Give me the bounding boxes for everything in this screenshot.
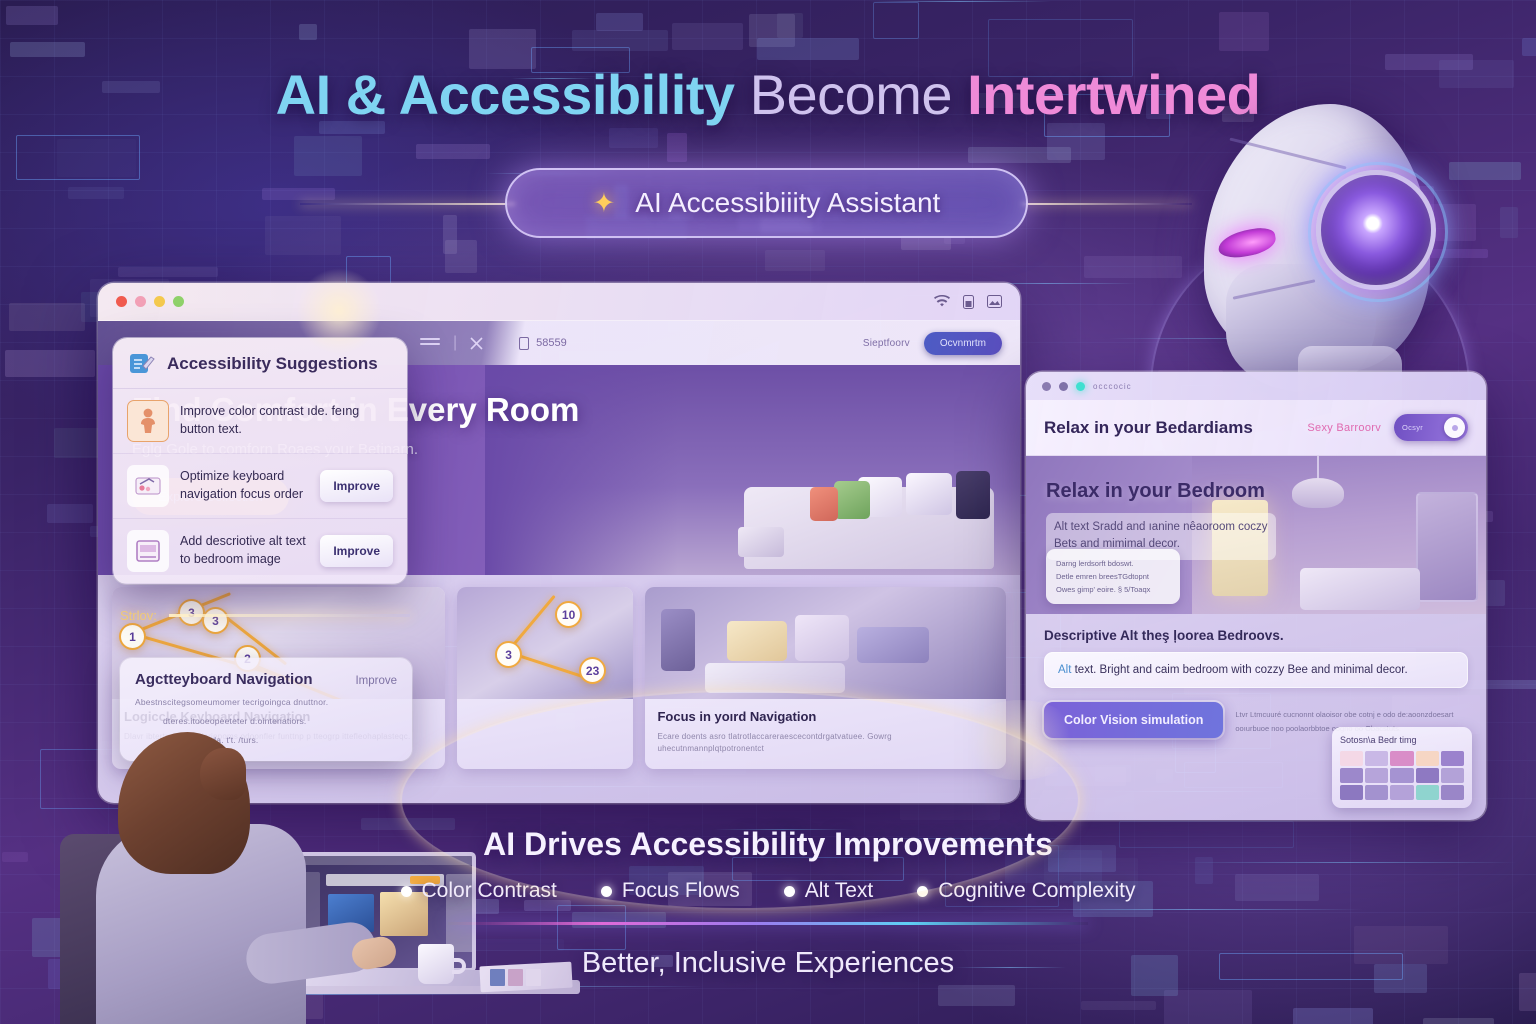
swatch-3-4[interactable] xyxy=(1416,785,1439,800)
improve-button-nav[interactable]: Improve xyxy=(355,675,397,687)
rpanel-dot-3[interactable] xyxy=(1076,382,1085,391)
rpanel-lamp-cord xyxy=(1317,456,1319,480)
bg-chip xyxy=(416,144,490,160)
glow-wire-arc xyxy=(400,690,1080,910)
bottom-subheading: Better, Inclusive Experiences xyxy=(0,947,1536,980)
bg-outline xyxy=(873,2,919,40)
swatch-1-1[interactable] xyxy=(1340,751,1363,766)
bg-chip xyxy=(596,13,643,32)
alt-text-input[interactable]: Alt text. Bright and caim bedroom with c… xyxy=(1044,652,1468,688)
document-icon xyxy=(519,337,529,350)
focus-node-7[interactable]: 23 xyxy=(579,657,606,684)
rpanel-bed xyxy=(1300,568,1420,610)
rpanel-header-title: Relax in your Bedardiams xyxy=(1044,418,1253,438)
card3-object-1 xyxy=(727,621,787,661)
swatch-1-3[interactable] xyxy=(1390,751,1413,766)
swatch-3-3[interactable] xyxy=(1390,785,1413,800)
toolbar-divider: | xyxy=(453,334,457,352)
bg-chip xyxy=(667,133,687,163)
bg-chip xyxy=(757,38,859,60)
close-window-dot[interactable] xyxy=(116,296,127,307)
hero-cushion-4 xyxy=(906,473,952,515)
keyboard-nav-title: Agctteyboard Navigation xyxy=(135,671,313,688)
title-part-2: Become xyxy=(735,63,968,126)
poster-root: AI & Accessibility Become Intertwined ✦ … xyxy=(0,0,1536,1024)
bg-chip xyxy=(6,6,57,25)
bg-chip xyxy=(1219,12,1269,51)
rpanel-titlebar: occcocic xyxy=(1026,372,1486,400)
toggle-knob xyxy=(1444,417,1465,438)
bedroom-editor-panel: occcocic Relax in your Bedardiams Sexy B… xyxy=(1026,372,1486,820)
status-label: Strlov: xyxy=(120,608,157,623)
image-alt-icon xyxy=(127,530,169,572)
card-image-2: 3 10 23 xyxy=(457,587,633,699)
bg-chip xyxy=(901,236,951,250)
rpanel-dot-1[interactable] xyxy=(1042,382,1051,391)
suggestion-row-alt-text[interactable]: Add descriotive alt text to bedroom imag… xyxy=(113,519,407,584)
battery-icon xyxy=(963,295,974,309)
card3-object-3 xyxy=(857,627,929,663)
close-icon[interactable] xyxy=(470,337,483,350)
bullet-dot-icon xyxy=(401,886,412,897)
bg-chip xyxy=(609,128,658,148)
focus-node-1[interactable]: 1 xyxy=(119,623,146,650)
rpanel-dot-2[interactable] xyxy=(1059,382,1068,391)
swatch-2-4[interactable] xyxy=(1416,768,1439,783)
bottom-beam xyxy=(448,922,1088,925)
hero-cushion-3 xyxy=(810,487,838,521)
bg-chip xyxy=(118,267,218,277)
bg-chip xyxy=(299,24,317,40)
ai-accessibility-assistant-pill[interactable]: ✦ AI Accessibiiity Assistant xyxy=(505,168,1028,238)
toggle-label: Ocsyr xyxy=(1402,423,1423,432)
bg-chip xyxy=(9,303,85,332)
rpanel-hero-text: Relax in your Bedroom Alt text Sradd and… xyxy=(1046,480,1276,560)
bg-chip xyxy=(68,187,123,198)
swatch-3-2[interactable] xyxy=(1365,785,1388,800)
bg-chip xyxy=(10,42,85,57)
suggestion-row-color-contrast[interactable]: Improve color contrast ıde. feıng button… xyxy=(113,389,407,454)
swatch-card-title: Sotosn\a Bedr timg xyxy=(1340,735,1464,745)
suggestion-text-3: Add descriotive alt text to bedroom imag… xyxy=(180,533,309,569)
rpanel-hero: Relax in your Bedroom Alt text Sradd and… xyxy=(1026,456,1486,614)
focus-node-6[interactable]: 10 xyxy=(555,601,582,628)
fullscreen-window-dot[interactable] xyxy=(173,296,184,307)
toolbar-nav-text[interactable]: Sieptfoorv xyxy=(863,338,910,349)
rpanel-shelf xyxy=(1416,492,1478,602)
person-accessibility-icon xyxy=(127,400,169,442)
bg-chip xyxy=(5,350,96,376)
accessibility-suggestions-panel: Accessibility Suggestions Improve color … xyxy=(113,338,407,584)
document-tab[interactable]: 58559 xyxy=(519,337,567,350)
rpanel-tooltip: Darng lerdsorft bdoswt. Detle emren bree… xyxy=(1046,549,1180,604)
document-label: 58559 xyxy=(536,337,567,349)
bg-chip xyxy=(47,504,92,523)
assistant-label: AI Accessibiiity Assistant xyxy=(635,187,940,219)
swatch-2-1[interactable] xyxy=(1340,768,1363,783)
bg-chip xyxy=(1500,207,1518,238)
image-icon xyxy=(987,295,1002,308)
bg-chip xyxy=(1293,1008,1373,1024)
swatch-3-5[interactable] xyxy=(1441,785,1464,800)
tooltip-line-2: Detle emren breesTGdtopnt xyxy=(1056,570,1170,583)
toolbar-cta-button[interactable]: Ocvnmrtm xyxy=(924,332,1002,355)
swatch-2-3[interactable] xyxy=(1390,768,1413,783)
alt-text-value: text. Bright and caim bedroom with cozzy… xyxy=(1071,664,1407,676)
swatch-3-1[interactable] xyxy=(1340,785,1363,800)
swatch-2-5[interactable] xyxy=(1441,768,1464,783)
color-swatch-card: Sotosn\a Bedr timg xyxy=(1332,727,1472,808)
toolbar-left-controls: | xyxy=(420,334,483,352)
keyboard-nav-header: Agctteyboard Navigation Improve xyxy=(135,671,397,688)
cvs-note-line-1: Ltvr Ltmcuuré cucnonnt olaoisor obe cotn… xyxy=(1235,708,1468,722)
robot-ear-module xyxy=(1316,170,1436,290)
suggestion-text-2: Optimize keyboard navigation focus order xyxy=(180,468,309,504)
bg-chip xyxy=(1423,1018,1494,1024)
swatch-2-2[interactable] xyxy=(1365,768,1388,783)
bg-chip xyxy=(672,23,743,50)
titlebar-status-icons xyxy=(934,295,1002,309)
suggestions-title: Accessibility Suggestions xyxy=(167,354,378,374)
rpanel-pink-label: Sexy Barroorv xyxy=(1307,422,1381,434)
rpanel-lamp xyxy=(1292,478,1344,508)
tooltip-line-3: Owes gimp' eoire. § 5/Toaqx xyxy=(1056,583,1170,596)
bg-chip xyxy=(1081,1001,1156,1011)
rpanel-hero-title: Relax in your Bedroom xyxy=(1046,480,1276,503)
bg-outline xyxy=(16,135,140,181)
rpanel-header: Relax in your Bedardiams Sexy Barroorv O… xyxy=(1026,400,1486,456)
assistant-wire-left xyxy=(300,203,515,205)
suggestion-text-1: Improve color contrast ıde. feıng button… xyxy=(180,403,393,439)
sparkle-icon: ✦ xyxy=(593,188,616,219)
alt-text-section-title: Descriptive Alt theş ļoorea Bedroovs. xyxy=(1044,628,1468,643)
keyboard-icon xyxy=(127,465,169,507)
checklist-icon xyxy=(129,352,155,376)
hero-cushion-5 xyxy=(956,471,990,519)
rpanel-header-right: Sexy Barroorv Ocsyr xyxy=(1307,414,1468,441)
status-beam xyxy=(169,614,410,617)
bg-chip xyxy=(938,985,1015,1006)
swatch-1-5[interactable] xyxy=(1441,751,1464,766)
wifi-icon xyxy=(934,295,950,308)
bg-chip xyxy=(765,250,826,271)
tooltip-line-1: Darng lerdsorft bdoswt. xyxy=(1056,557,1170,570)
alt-text-key: Alt xyxy=(1058,664,1071,676)
title-part-1: AI & Accessibility xyxy=(276,63,735,126)
hamburger-icon[interactable] xyxy=(420,338,440,349)
status-strip: Strlov: xyxy=(120,608,410,623)
toolbar-right-controls: Sieptfoorv Ocvnmrtm xyxy=(863,332,1002,355)
improve-button-alt-text[interactable]: Improve xyxy=(320,535,393,567)
bg-chip xyxy=(445,240,477,273)
browser-titlebar xyxy=(98,283,1020,321)
hero-table xyxy=(738,527,784,557)
swatch-1-4[interactable] xyxy=(1416,751,1439,766)
card3-object-4 xyxy=(661,609,695,671)
swatch-grid xyxy=(1340,751,1464,800)
swatch-1-2[interactable] xyxy=(1365,751,1388,766)
bg-scanline xyxy=(869,1,1051,2)
person-hair-front xyxy=(200,748,246,800)
suggestion-row-keyboard-focus[interactable]: Optimize keyboard navigation focus order… xyxy=(113,454,407,519)
window-controls[interactable] xyxy=(116,296,184,307)
bedroom-mode-toggle[interactable]: Ocsyr xyxy=(1394,414,1468,441)
hero-cushion-2 xyxy=(834,481,870,519)
rpanel-body: Descriptive Alt theş ļoorea Bedroovs. Al… xyxy=(1026,614,1486,688)
focus-node-5[interactable]: 3 xyxy=(495,641,522,668)
minimize-window-dot[interactable] xyxy=(135,296,146,307)
bg-chip xyxy=(265,216,341,255)
card3-bed xyxy=(705,663,845,693)
bullet-label: Cognitive Complexity xyxy=(938,879,1135,903)
glow-flare-left xyxy=(296,268,382,354)
bg-chip xyxy=(1522,38,1536,56)
bg-chip xyxy=(262,188,335,199)
zoom-window-dot[interactable] xyxy=(154,296,165,307)
bg-chip xyxy=(294,136,362,176)
rpanel-window-label: occcocic xyxy=(1093,382,1132,391)
improve-button-keyboard[interactable]: Improve xyxy=(320,470,393,502)
card-image-3 xyxy=(645,587,1006,699)
card3-object-2 xyxy=(795,615,849,661)
